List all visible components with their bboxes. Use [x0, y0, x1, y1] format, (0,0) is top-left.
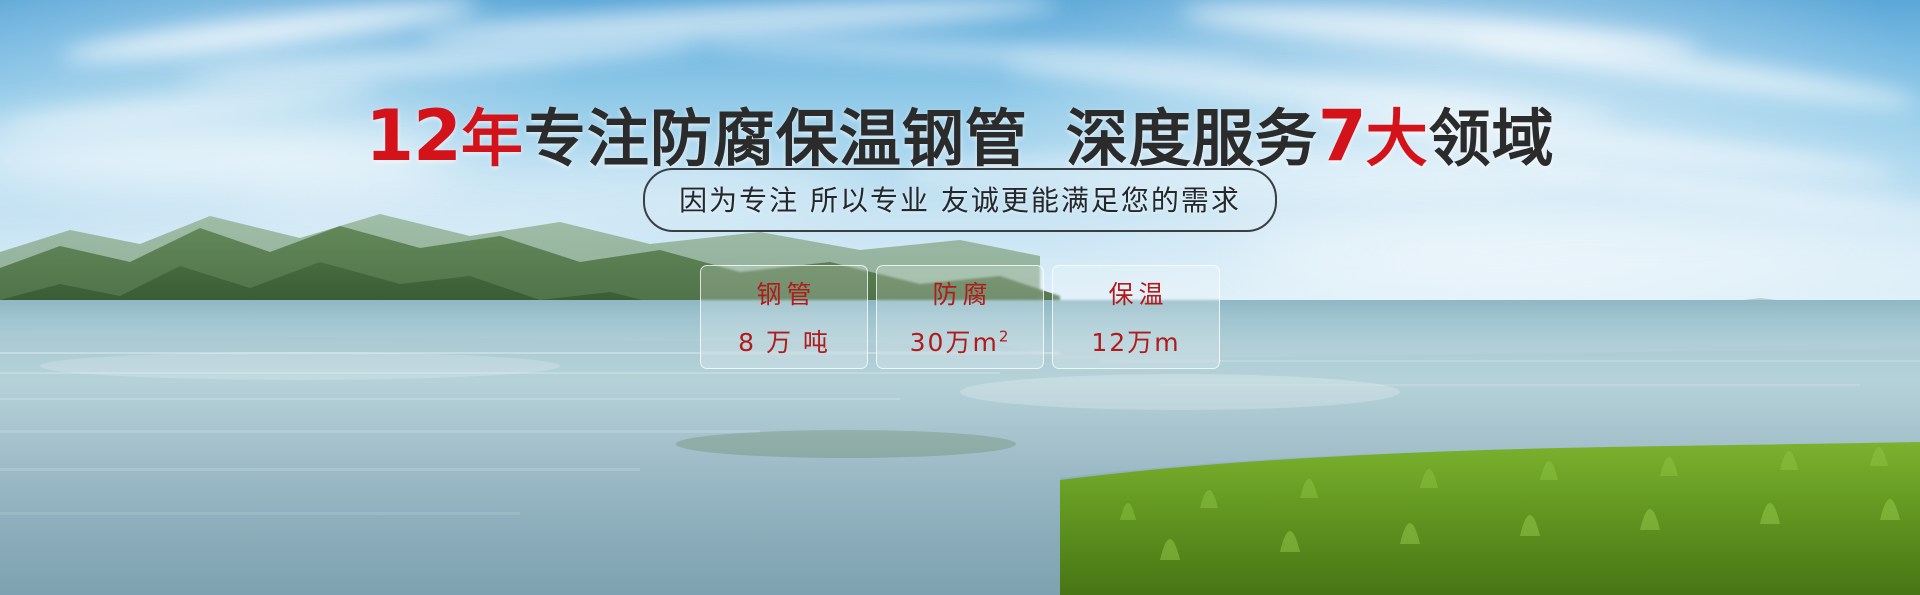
- stat-card-value: 8 万 吨: [738, 323, 830, 359]
- subtitle-container: 因为专注 所以专业 友诚更能满足您的需求: [0, 168, 1920, 232]
- stat-card: 防腐 30万m2: [876, 265, 1044, 369]
- stat-card-value: 30万m2: [910, 323, 1011, 359]
- headline-part1: 专注防腐保温钢管: [524, 102, 1028, 175]
- headline-part3: 领域: [1429, 102, 1555, 175]
- banner-content: 12年专注防腐保温钢管深度服务7大领域 因为专注 所以专业 友诚更能满足您的需求…: [0, 0, 1920, 595]
- headline: 12年专注防腐保温钢管深度服务7大领域: [0, 88, 1920, 178]
- stat-card-value: 12万m: [1091, 323, 1180, 359]
- stat-card-value-text: 12万m: [1091, 328, 1180, 357]
- stat-card-value-text: 8 万 吨: [738, 328, 830, 357]
- stat-card-title: 钢管: [751, 275, 816, 311]
- headline-highlight-number: 7: [1318, 95, 1366, 177]
- stat-card: 钢管 8 万 吨: [700, 265, 868, 369]
- stat-card-title: 保温: [1103, 275, 1168, 311]
- headline-years-unit: 年: [461, 102, 524, 175]
- headline-highlight-unit: 大: [1366, 102, 1429, 175]
- stat-card-value-sup: 2: [999, 328, 1011, 346]
- stat-card: 保温 12万m: [1052, 265, 1220, 369]
- headline-years-number: 12: [365, 95, 460, 177]
- hero-banner: 12年专注防腐保温钢管深度服务7大领域 因为专注 所以专业 友诚更能满足您的需求…: [0, 0, 1920, 595]
- stat-card-value-text: 30万m: [910, 328, 999, 357]
- stat-card-title: 防腐: [927, 275, 992, 311]
- stat-cards: 钢管 8 万 吨 防腐 30万m2 保温 12万m: [0, 265, 1920, 369]
- subtitle-pill: 因为专注 所以专业 友诚更能满足您的需求: [643, 168, 1277, 232]
- headline-part2: 深度服务: [1066, 102, 1318, 175]
